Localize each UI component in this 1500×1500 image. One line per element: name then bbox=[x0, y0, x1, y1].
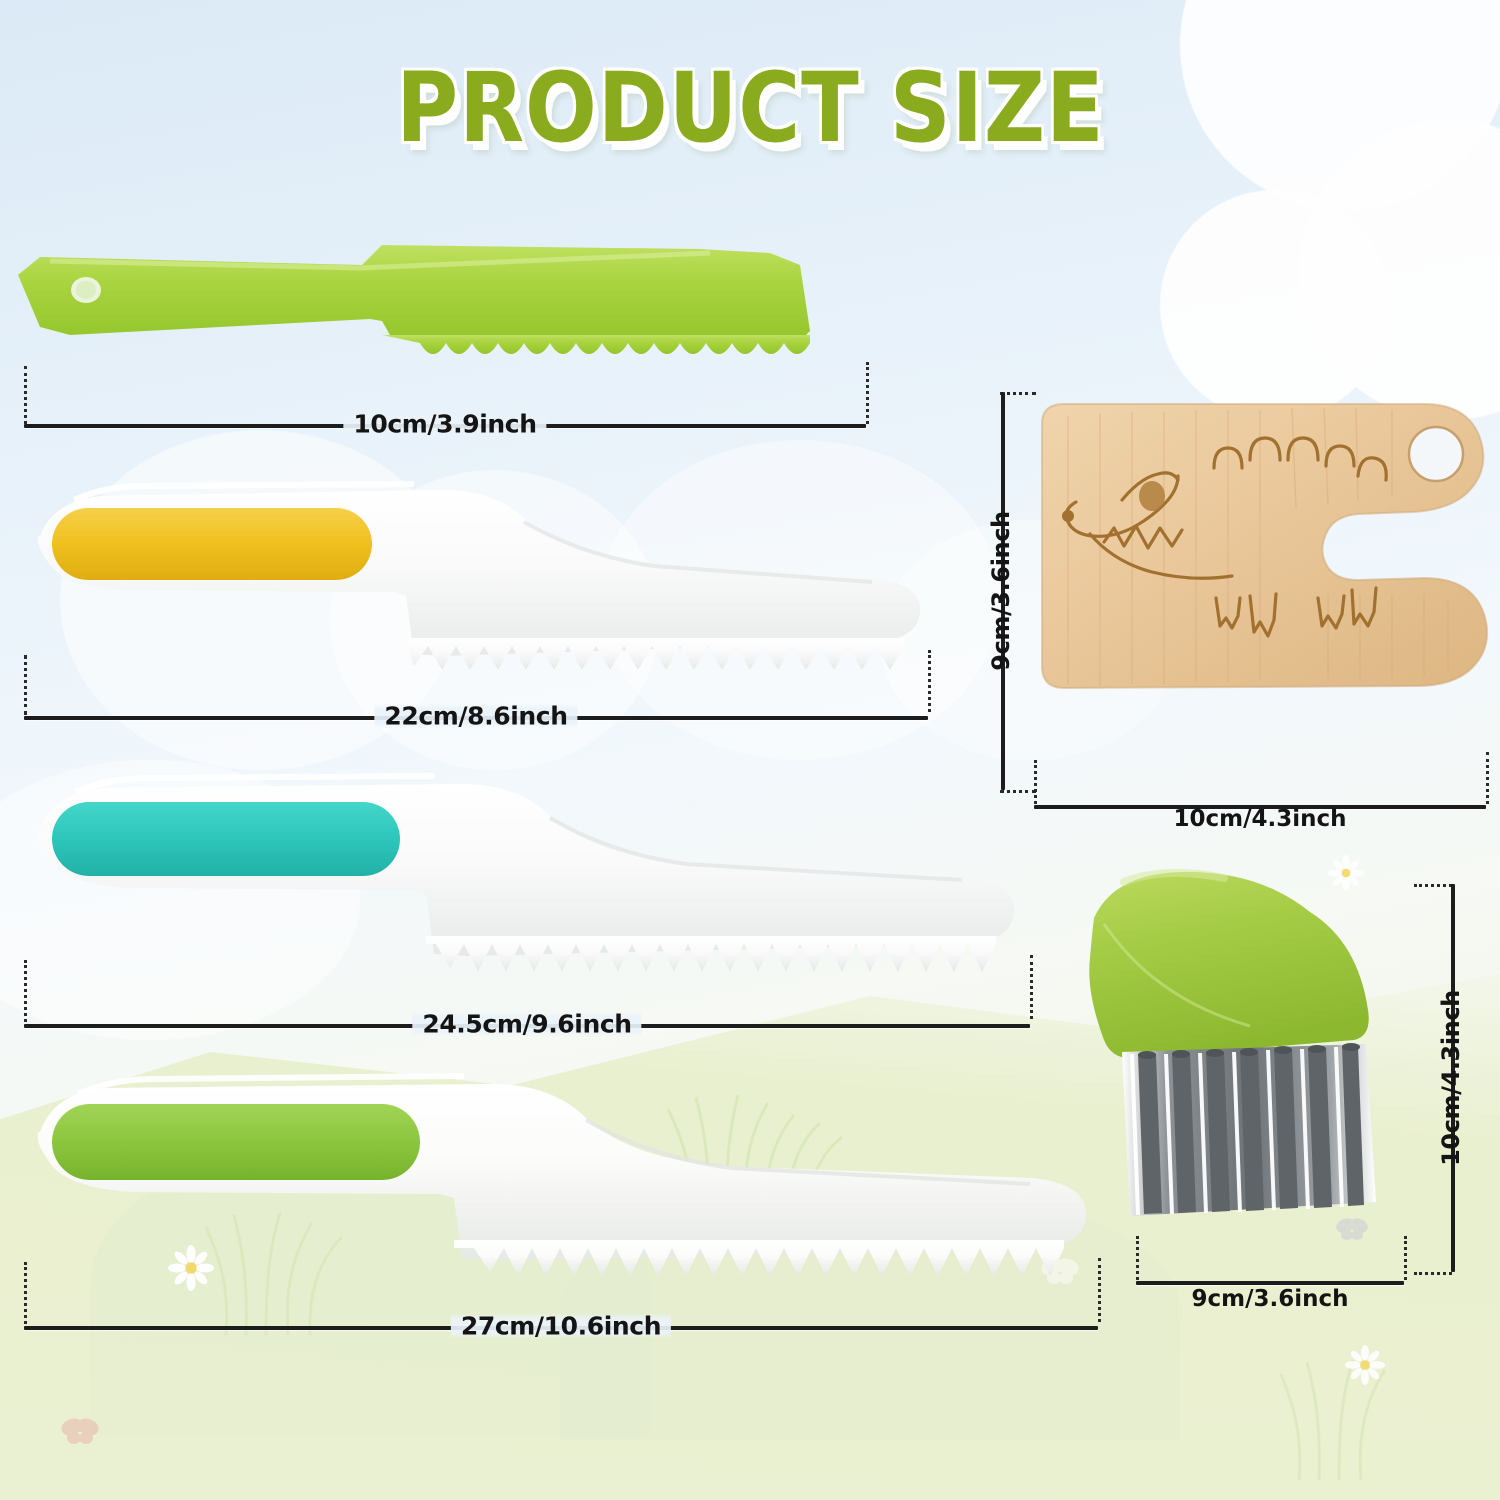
dimension-wood-cutter-height: 9cm/3.6inch bbox=[988, 392, 1014, 790]
product-wooden-crocodile-cutter bbox=[1028, 388, 1500, 798]
page-title-wrap: PRODUCT SIZE bbox=[0, 52, 1500, 164]
product-green-handle-knife bbox=[14, 1070, 1104, 1285]
dimension-label: 24.5cm/9.6inch bbox=[412, 1010, 641, 1039]
dimension-label: 9cm/3.6inch bbox=[987, 503, 1015, 678]
dimension-crinkle-cutter-height: 10cm/4.3inch bbox=[1438, 884, 1464, 1272]
product-teal-handle-knife bbox=[14, 770, 1034, 980]
dimension-label: 10cm/4.3inch bbox=[1034, 806, 1486, 832]
dimension-tick-right bbox=[866, 362, 869, 424]
knife-icon bbox=[10, 235, 870, 395]
dimension-label: 27cm/10.6inch bbox=[451, 1312, 671, 1341]
dimension-tick-right bbox=[1404, 1236, 1407, 1280]
daisy-flower bbox=[1345, 1345, 1385, 1385]
knife-icon bbox=[14, 478, 934, 678]
dimension-green-handle-knife: 27cm/10.6inch bbox=[24, 1308, 1098, 1344]
dimension-label: 22cm/8.6inch bbox=[374, 702, 577, 731]
dimension-tick-bottom bbox=[1000, 790, 1036, 793]
dimension-green-knife: 10cm/3.9inch bbox=[24, 406, 866, 442]
wood-cutter-icon bbox=[1028, 388, 1500, 798]
dimension-tick-right bbox=[1486, 752, 1489, 804]
product-yellow-handle-knife bbox=[14, 478, 934, 678]
knife-icon bbox=[14, 1070, 1104, 1285]
butterfly-icon bbox=[60, 1415, 100, 1447]
dimension-label: 10cm/4.3inch bbox=[1437, 982, 1465, 1174]
dimension-bar bbox=[1136, 1281, 1404, 1285]
crinkle-cutter-icon bbox=[1090, 868, 1410, 1288]
page-title: PRODUCT SIZE bbox=[396, 52, 1104, 164]
dimension-tick-right bbox=[928, 650, 931, 712]
dimension-tick-right bbox=[1030, 955, 1033, 1019]
dimension-label: 9cm/3.6inch bbox=[1130, 1286, 1410, 1312]
dimension-label: 10cm/3.9inch bbox=[343, 410, 546, 439]
dimension-teal-knife: 24.5cm/9.6inch bbox=[24, 1006, 1030, 1042]
product-crinkle-cutter bbox=[1090, 868, 1410, 1288]
product-size-infographic: PRODUCT SIZE 10cm/3.9inch bbox=[0, 0, 1500, 1500]
dimension-tick-bottom bbox=[1414, 1272, 1452, 1275]
dimension-tick-right bbox=[1098, 1258, 1101, 1322]
dimension-yellow-knife: 22cm/8.6inch bbox=[24, 698, 928, 734]
cloud-shape bbox=[1160, 190, 1390, 420]
knife-icon bbox=[14, 770, 1034, 980]
product-green-serrated-knife bbox=[10, 235, 870, 395]
